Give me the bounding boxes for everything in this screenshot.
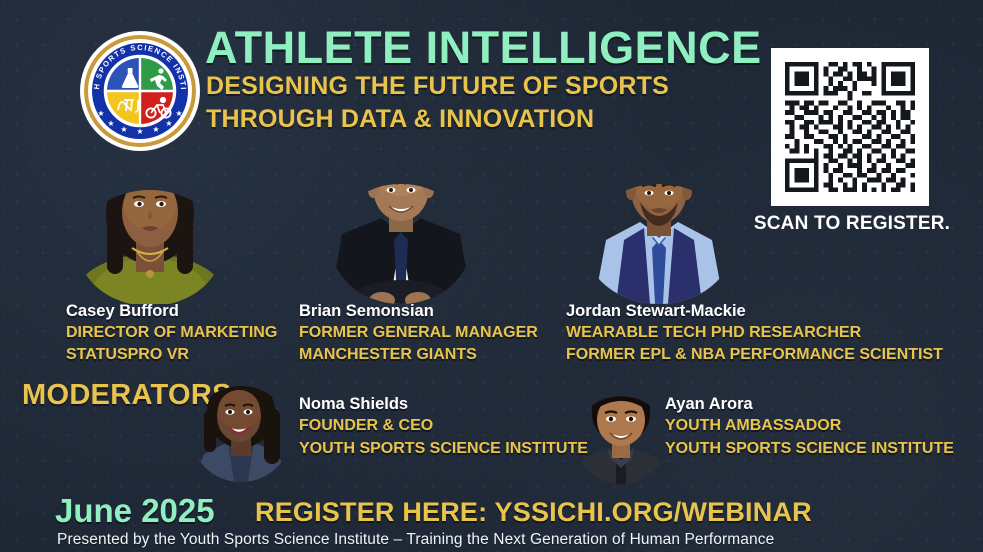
speaker-org: STATUSPRO VR (66, 344, 277, 366)
svg-text:★: ★ (175, 109, 182, 118)
speaker-name: Jordan Stewart-Mackie (566, 301, 943, 322)
speaker-role: WEARABLE TECH PHD RESEARCHER (566, 322, 943, 344)
presented-by-text: Presented by the Youth Sports Science In… (57, 531, 774, 549)
speaker-role: DIRECTOR OF MARKETING (66, 322, 277, 344)
poster-subtitle-line-2: THROUGH DATA & INNOVATION (206, 103, 669, 136)
qr-code[interactable] (771, 48, 929, 206)
moderator-org: YOUTH SPORTS SCIENCE INSTITUTE (665, 438, 954, 460)
poster-title: ATHLETE INTELLIGENCE (205, 24, 762, 72)
svg-text:★: ★ (120, 125, 127, 134)
moderator-name: Noma Shields (299, 394, 588, 415)
moderator-role: FOUNDER & CEO (299, 415, 588, 437)
svg-text:★: ★ (165, 119, 172, 128)
organization-logo: YOUTH SPORTS SCIENCE INSTITUTE ★★ ★★ ★★ … (79, 30, 201, 152)
poster-subtitle: DESIGNING THE FUTURE OF SPORTS THROUGH D… (206, 70, 669, 136)
event-date: June 2025 (55, 492, 215, 530)
moderator-name: Ayan Arora (665, 394, 954, 415)
speaker-org: FORMER EPL & NBA PERFORMANCE SCIENTIST (566, 344, 943, 366)
photo-noma-shields (186, 372, 296, 482)
speaker-card-0: Casey Bufford DIRECTOR OF MARKETING STAT… (66, 301, 277, 365)
svg-text:★: ★ (152, 125, 159, 134)
poster-subtitle-line-1: DESIGNING THE FUTURE OF SPORTS (206, 70, 669, 103)
moderator-org: YOUTH SPORTS SCIENCE INSTITUTE (299, 438, 588, 460)
speaker-org: MANCHESTER GIANTS (299, 344, 538, 366)
photo-ayan-arora (570, 382, 672, 484)
photo-casey-bufford (66, 152, 234, 304)
photo-brian-semonsian (320, 148, 482, 304)
speaker-name: Casey Bufford (66, 301, 277, 322)
moderator-card-1: Ayan Arora YOUTH AMBASSADOR YOUTH SPORTS… (665, 394, 954, 460)
speaker-card-1: Brian Semonsian FORMER GENERAL MANAGER M… (299, 301, 538, 365)
speaker-role: FORMER GENERAL MANAGER (299, 322, 538, 344)
speaker-name: Brian Semonsian (299, 301, 538, 322)
svg-text:★: ★ (97, 109, 104, 118)
moderator-card-0: Noma Shields FOUNDER & CEO YOUTH SPORTS … (299, 394, 588, 460)
moderator-role: YOUTH AMBASSADOR (665, 415, 954, 437)
svg-text:★: ★ (107, 119, 114, 128)
svg-text:★: ★ (136, 127, 143, 136)
qr-caption: SCAN TO REGISTER. (752, 213, 952, 235)
register-link[interactable]: REGISTER HERE: YSSICHI.ORG/WEBINAR (255, 497, 812, 528)
speaker-card-2: Jordan Stewart-Mackie WEARABLE TECH PHD … (566, 301, 943, 365)
photo-jordan-stewart-mackie (578, 148, 740, 304)
webinar-poster: YOUTH SPORTS SCIENCE INSTITUTE ★★ ★★ ★★ … (0, 0, 983, 552)
